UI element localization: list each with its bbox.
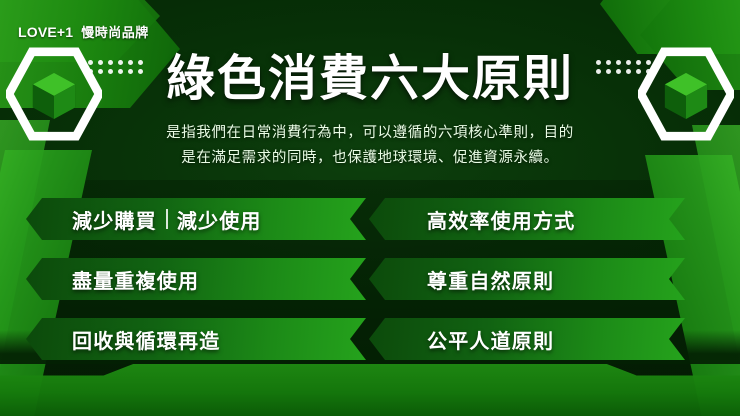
principle-item-4-label: 高效率使用方式 — [427, 205, 575, 234]
principle-item-6-text: 公平人道原則 — [427, 325, 554, 354]
subtitle-line-2: 是在滿足需求的同時，也保護地球環境、促進資源永續。 — [0, 146, 740, 171]
principle-item-1-text: 減少購買 — [72, 205, 157, 234]
header-block: 綠色消費六大原則 是指我們在日常消費行為中，可以遵循的六項核心準則，目的 是在滿… — [0, 52, 740, 172]
principle-item-2-label: 盡量重複使用 — [72, 265, 199, 294]
brand-name-cn: 慢時尚品牌 — [81, 22, 149, 41]
principle-item-1[interactable]: 減少購買 減少使用 — [26, 198, 366, 240]
brand-logo: LOVE+1 慢時尚品牌 — [18, 22, 149, 41]
principle-item-5-text: 尊重自然原則 — [427, 265, 554, 294]
principles-column-left: 減少購買 減少使用 盡量重複使用 回收與循環再造 — [0, 198, 365, 360]
principle-item-4[interactable]: 高效率使用方式 — [369, 198, 685, 240]
brand-name-en: LOVE+1 — [18, 24, 73, 40]
poster-canvas: LOVE+1 慢時尚品牌 綠色消費六大原則 是指我們在日常消費行為中，可以遵循的… — [0, 0, 740, 416]
principle-item-2-text: 盡量重複使用 — [72, 265, 199, 294]
principle-item-3[interactable]: 回收與循環再造 — [26, 318, 366, 360]
principles-grid: 減少購買 減少使用 盡量重複使用 回收與循環再造 高效率使用方式 — [0, 198, 740, 360]
principle-item-1-text-secondary: 減少使用 — [177, 205, 262, 234]
principle-item-1-label: 減少購買 減少使用 — [72, 205, 262, 234]
principle-item-3-label: 回收與循環再造 — [72, 325, 220, 354]
principle-item-5-label: 尊重自然原則 — [427, 265, 554, 294]
principles-column-right: 高效率使用方式 尊重自然原則 公平人道原則 — [365, 198, 740, 360]
page-title: 綠色消費六大原則 — [0, 52, 740, 107]
separator-icon — [166, 209, 168, 229]
principle-item-4-text: 高效率使用方式 — [427, 205, 575, 234]
principle-item-6[interactable]: 公平人道原則 — [369, 318, 685, 360]
principle-item-2[interactable]: 盡量重複使用 — [26, 258, 366, 300]
principle-item-6-label: 公平人道原則 — [427, 325, 554, 354]
principle-item-3-text: 回收與循環再造 — [72, 325, 220, 354]
subtitle-line-1: 是指我們在日常消費行為中，可以遵循的六項核心準則，目的 — [0, 121, 740, 146]
principle-item-5[interactable]: 尊重自然原則 — [369, 258, 685, 300]
page-subtitle: 是指我們在日常消費行為中，可以遵循的六項核心準則，目的 是在滿足需求的同時，也保… — [0, 121, 740, 172]
